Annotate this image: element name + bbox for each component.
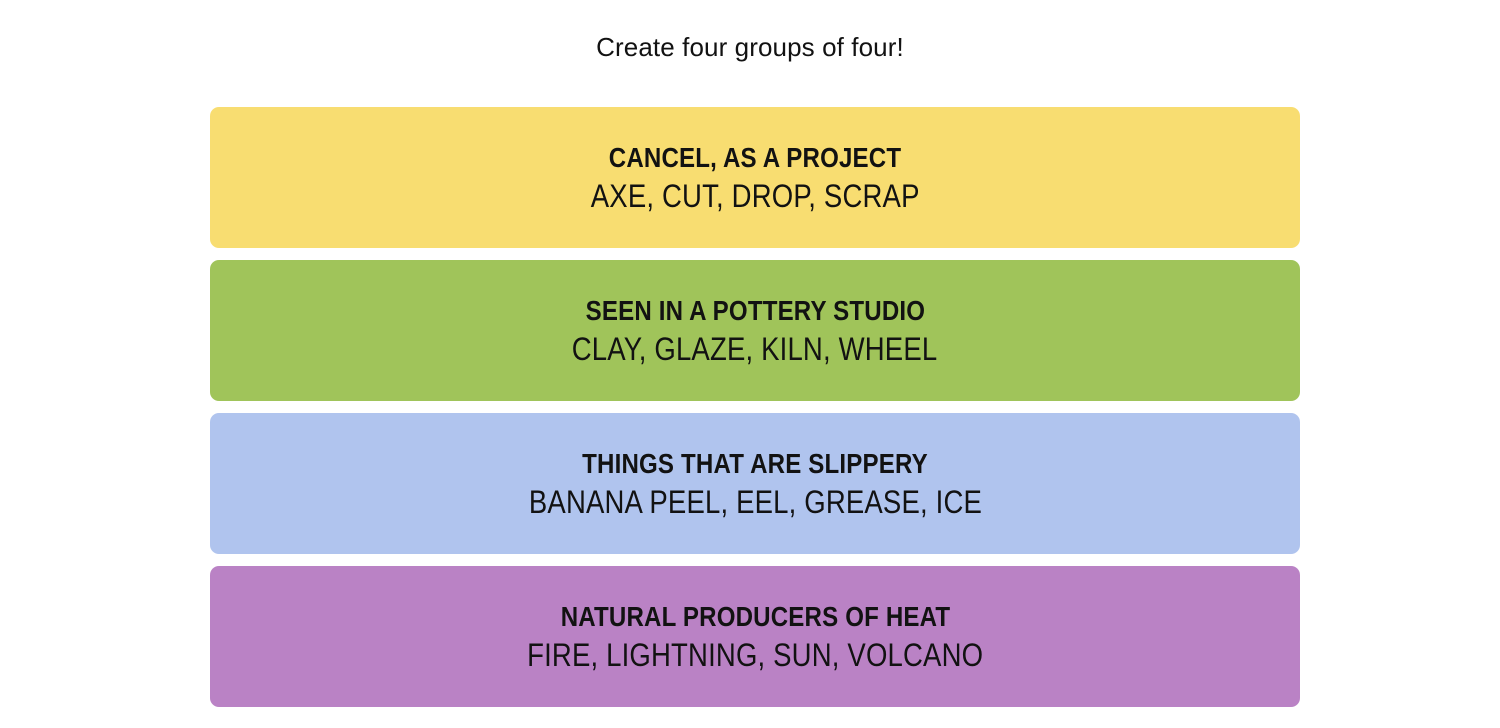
group-title: SEEN IN A POTTERY STUDIO [585,293,925,329]
group-card-yellow[interactable]: CANCEL, AS A PROJECT AXE, CUT, DROP, SCR… [210,107,1300,248]
group-card-blue[interactable]: THINGS THAT ARE SLIPPERY BANANA PEEL, EE… [210,413,1300,554]
solved-groups-list: CANCEL, AS A PROJECT AXE, CUT, DROP, SCR… [210,107,1300,707]
instruction-text: Create four groups of four! [0,30,1500,64]
group-members: CLAY, GLAZE, KILN, WHEEL [572,329,938,369]
group-card-green[interactable]: SEEN IN A POTTERY STUDIO CLAY, GLAZE, KI… [210,260,1300,401]
group-title: CANCEL, AS A PROJECT [609,140,901,176]
group-members: BANANA PEEL, EEL, GREASE, ICE [528,482,981,522]
group-title: NATURAL PRODUCERS OF HEAT [560,599,950,635]
group-members: FIRE, LIGHTNING, SUN, VOLCANO [527,635,983,675]
group-card-purple[interactable]: NATURAL PRODUCERS OF HEAT FIRE, LIGHTNIN… [210,566,1300,707]
group-title: THINGS THAT ARE SLIPPERY [582,446,928,482]
group-members: AXE, CUT, DROP, SCRAP [591,176,920,216]
connections-results-page: Create four groups of four! CANCEL, AS A… [0,0,1500,728]
